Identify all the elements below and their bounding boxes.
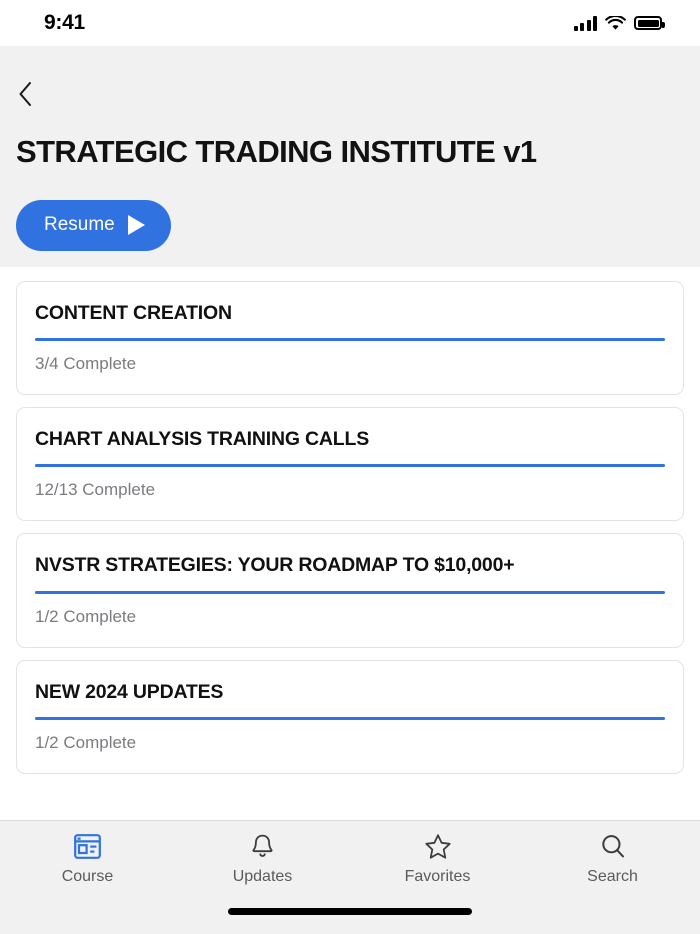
page-title: STRATEGIC TRADING INSTITUTE v1 bbox=[0, 116, 700, 170]
tab-updates[interactable]: Updates bbox=[175, 831, 350, 886]
home-indicator[interactable] bbox=[228, 908, 472, 915]
progress-bar bbox=[35, 591, 665, 594]
tab-label: Updates bbox=[233, 868, 293, 886]
course-section-list: CONTENT CREATION 3/4 Complete CHART ANAL… bbox=[0, 267, 700, 820]
status-bar-time: 9:41 bbox=[44, 11, 85, 35]
progress-bar-fill bbox=[35, 717, 665, 720]
list-item[interactable]: CHART ANALYSIS TRAINING CALLS 12/13 Comp… bbox=[16, 407, 684, 521]
list-item[interactable]: NEW 2024 UPDATES 1/2 Complete bbox=[16, 660, 684, 774]
list-item[interactable]: CONTENT CREATION 3/4 Complete bbox=[16, 281, 684, 395]
list-item[interactable]: NVSTR STRATEGIES: YOUR ROADMAP TO $10,00… bbox=[16, 533, 684, 647]
search-icon bbox=[600, 831, 626, 861]
resume-button[interactable]: Resume bbox=[16, 200, 171, 251]
wifi-icon bbox=[605, 16, 626, 31]
resume-row: Resume bbox=[0, 170, 700, 251]
bottom-tab-bar: Course Updates Favorites bbox=[0, 820, 700, 900]
browser-window-icon bbox=[74, 831, 101, 861]
chevron-left-icon bbox=[18, 81, 33, 107]
progress-label: 1/2 Complete bbox=[35, 607, 665, 627]
bell-icon bbox=[250, 831, 275, 861]
progress-label: 3/4 Complete bbox=[35, 354, 665, 374]
star-icon bbox=[424, 831, 452, 861]
tab-label: Search bbox=[587, 868, 638, 886]
tab-label: Course bbox=[62, 868, 114, 886]
tab-favorites[interactable]: Favorites bbox=[350, 831, 525, 886]
progress-bar-fill bbox=[35, 464, 665, 467]
progress-bar-fill bbox=[35, 591, 665, 594]
progress-label: 1/2 Complete bbox=[35, 733, 665, 753]
status-bar: 9:41 bbox=[0, 0, 700, 46]
app-screen: 9:41 STRATEGIC TRADING INSTITUTE v1 Resu… bbox=[0, 0, 700, 934]
progress-bar bbox=[35, 464, 665, 467]
section-title: NEW 2024 UPDATES bbox=[35, 681, 665, 704]
section-title: CHART ANALYSIS TRAINING CALLS bbox=[35, 428, 665, 451]
header-spacer bbox=[0, 251, 700, 267]
progress-bar-fill bbox=[35, 338, 665, 341]
progress-label: 12/13 Complete bbox=[35, 480, 665, 500]
status-bar-icons bbox=[574, 16, 663, 31]
progress-bar bbox=[35, 717, 665, 720]
tab-search[interactable]: Search bbox=[525, 831, 700, 886]
section-title: NVSTR STRATEGIES: YOUR ROADMAP TO $10,00… bbox=[35, 554, 665, 577]
tab-course[interactable]: Course bbox=[0, 831, 175, 886]
resume-button-label: Resume bbox=[44, 214, 115, 236]
home-indicator-area bbox=[0, 900, 700, 934]
section-title: CONTENT CREATION bbox=[35, 302, 665, 325]
signal-bars-icon bbox=[574, 16, 598, 31]
battery-full-icon bbox=[634, 16, 662, 30]
back-button[interactable] bbox=[0, 72, 52, 116]
progress-bar bbox=[35, 338, 665, 341]
course-header: STRATEGIC TRADING INSTITUTE v1 Resume bbox=[0, 46, 700, 267]
tab-label: Favorites bbox=[405, 868, 471, 886]
play-icon bbox=[128, 215, 145, 235]
